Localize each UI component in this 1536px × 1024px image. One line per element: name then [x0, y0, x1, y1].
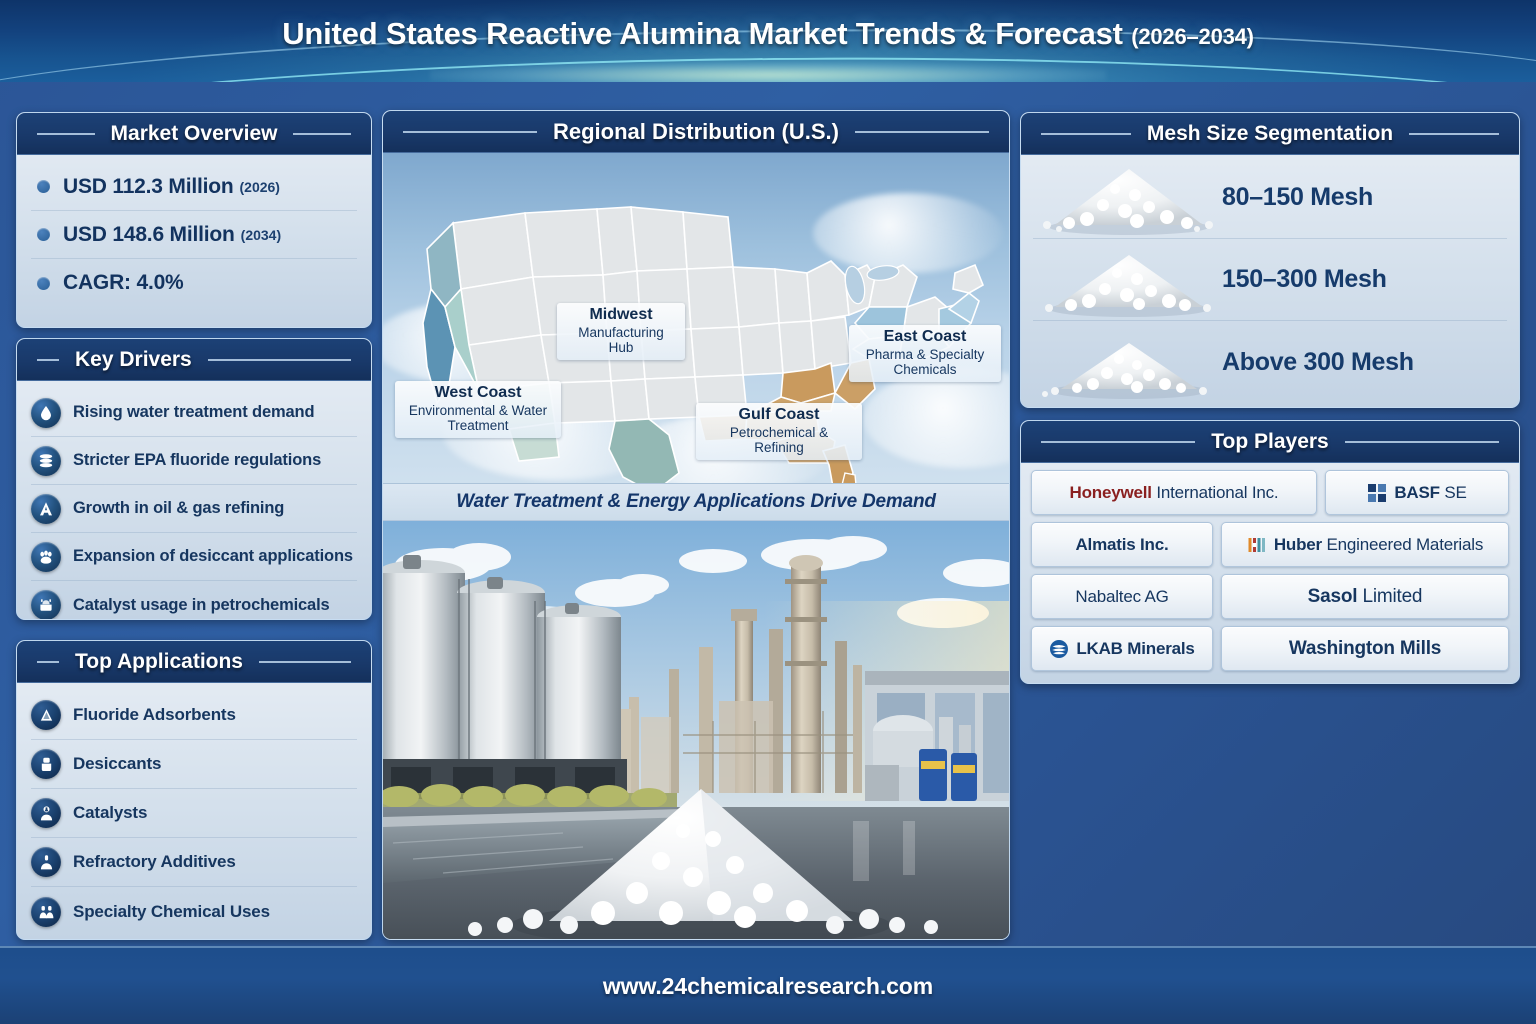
header-rule-right	[293, 133, 351, 135]
lkab-brand: LKAB Minerals	[1076, 639, 1194, 658]
regional-distribution-panel: Regional Distribution (U.S.)	[382, 110, 1010, 940]
paw-icon	[31, 542, 61, 572]
player-name: BASF SE	[1394, 483, 1466, 503]
regional-distribution-header: Regional Distribution (U.S.)	[383, 111, 1009, 153]
top-application-label: Desiccants	[73, 754, 161, 774]
player-honeywell[interactable]: Honeywell International Inc.	[1031, 470, 1317, 515]
us-map-area: Midwest Manufacturing Hub West Coast Env…	[383, 153, 1009, 483]
sasol-suffix: Limited	[1357, 586, 1422, 607]
almatis-brand: Almatis Inc.	[1075, 535, 1168, 554]
mesh-size-body: 80–150 Mesh	[1021, 155, 1519, 405]
key-driver-item: Catalyst usage in petrochemicals	[31, 581, 357, 620]
player-huber[interactable]: Huber Engineered Materials	[1221, 522, 1509, 567]
top-application-item: Desiccants	[31, 740, 357, 789]
bullet-dot-icon	[37, 277, 50, 290]
top-players-title: Top Players	[1195, 430, 1345, 454]
header-rule-right	[259, 661, 351, 663]
huber-suffix: Engineered Materials	[1322, 535, 1483, 554]
market-overview-title: Market Overview	[95, 122, 294, 146]
key-driver-label: Growth in oil & gas refining	[73, 499, 284, 518]
key-driver-item: Rising water treatment demand	[31, 389, 357, 437]
top-application-item: Refractory Additives	[31, 838, 357, 887]
map-label-title: West Coast	[405, 384, 551, 403]
player-sasol[interactable]: Sasol Limited	[1221, 574, 1509, 619]
letter-a-icon	[31, 494, 61, 524]
huber-brand: Huber	[1274, 535, 1322, 554]
page-header: United States Reactive Alumina Market Tr…	[0, 0, 1536, 82]
key-driver-label: Expansion of desiccant applications	[73, 547, 353, 566]
player-name: Huber Engineered Materials	[1274, 535, 1483, 555]
top-players-body: Honeywell International Inc. BASF SE Alm…	[1021, 463, 1519, 678]
mesh-size-item: 80–150 Mesh	[1033, 157, 1507, 239]
map-label-midwest: Midwest Manufacturing Hub	[557, 303, 685, 360]
market-overview-body: USD 112.3 Million (2026) USD 148.6 Milli…	[17, 155, 371, 315]
player-name: LKAB Minerals	[1076, 639, 1194, 659]
basf-logo-icon	[1367, 483, 1387, 503]
header-rule-left	[37, 661, 59, 663]
top-applications-body: Fluoride Adsorbents Desiccants Catalysts	[17, 683, 371, 940]
key-driver-item: Growth in oil & gas refining	[31, 485, 357, 533]
header-rule-left	[1041, 133, 1131, 135]
honeywell-brand: Honeywell	[1070, 483, 1152, 502]
map-label-title: Midwest	[567, 306, 675, 325]
canister-icon	[31, 749, 61, 779]
mesh-size-panel: Mesh Size Segmentation	[1020, 112, 1520, 408]
header-rule-left	[37, 133, 95, 135]
top-application-item: Fluoride Adsorbents	[31, 691, 357, 740]
bullet-dot-icon	[37, 180, 50, 193]
map-label-desc: Environmental & Water Treatment	[405, 403, 551, 434]
key-drivers-header: Key Drivers	[17, 339, 371, 381]
top-players-row: Almatis Inc. Huber Engineered Materials	[1031, 522, 1509, 567]
mesh-size-item: 150–300 Mesh	[1033, 239, 1507, 321]
map-label-desc: Pharma & Specialty Chemicals	[859, 347, 991, 378]
huber-logo-icon	[1247, 535, 1267, 555]
page-title: United States Reactive Alumina Market Tr…	[0, 16, 1536, 52]
top-players-row: LKAB Minerals Washington Mills	[1031, 626, 1509, 671]
mesh-size-title: Mesh Size Segmentation	[1131, 122, 1409, 146]
reactor-icon	[31, 590, 61, 620]
top-applications-header: Top Applications	[17, 641, 371, 683]
nabaltec-brand: Nabaltec AG	[1075, 587, 1168, 606]
bullet-dot-icon	[37, 228, 50, 241]
player-basf[interactable]: BASF SE	[1325, 470, 1509, 515]
map-label-east-coast: East Coast Pharma & Specialty Chemicals	[849, 325, 1001, 382]
key-drivers-panel: Key Drivers Rising water treatment deman…	[16, 338, 372, 620]
player-name: Washington Mills	[1289, 638, 1441, 660]
person-flask-icon	[31, 798, 61, 828]
header-rule-right	[1345, 441, 1499, 443]
center-caption: Water Treatment & Energy Applications Dr…	[383, 483, 1009, 521]
header-rule-left	[403, 131, 537, 133]
footer-url[interactable]: www.24chemicalresearch.com	[603, 973, 933, 1000]
powder-pile-icon	[1037, 325, 1222, 399]
header-glow-decoration	[430, 62, 1106, 82]
header-rule-left	[1041, 441, 1195, 443]
market-overview-row: USD 112.3 Million (2026)	[31, 163, 357, 211]
player-name: Nabaltec AG	[1075, 587, 1168, 607]
top-application-item: Catalysts	[31, 789, 357, 838]
market-overview-row: CAGR: 4.0%	[31, 259, 357, 307]
key-driver-label: Catalyst usage in petrochemicals	[73, 596, 330, 615]
map-label-desc: Manufacturing Hub	[567, 325, 675, 356]
top-players-row: Nabaltec AG Sasol Limited	[1031, 574, 1509, 619]
market-value: USD 112.3 Million	[63, 175, 234, 199]
top-players-row: Honeywell International Inc. BASF SE	[1031, 470, 1509, 515]
cagr-value: CAGR: 4.0%	[63, 271, 184, 295]
top-application-label: Catalysts	[73, 803, 147, 823]
mesh-size-label: 150–300 Mesh	[1222, 265, 1387, 294]
person-icon	[31, 847, 61, 877]
page-title-years: (2026–2034)	[1131, 24, 1254, 49]
player-name: Almatis Inc.	[1075, 535, 1168, 555]
player-lkab[interactable]: LKAB Minerals	[1031, 626, 1213, 671]
mesh-size-header: Mesh Size Segmentation	[1021, 113, 1519, 155]
refinery-photo	[383, 521, 1009, 940]
powder-pile-icon	[1037, 161, 1222, 235]
top-application-item: Specialty Chemical Uses	[31, 887, 357, 936]
market-overview-row: USD 148.6 Million (2034)	[31, 211, 357, 259]
top-application-label: Refractory Additives	[73, 852, 236, 872]
honeywell-suffix: International Inc.	[1152, 483, 1279, 502]
cone-icon	[31, 700, 61, 730]
key-driver-item: Expansion of desiccant applications	[31, 533, 357, 581]
player-name: Honeywell International Inc.	[1070, 483, 1279, 503]
key-driver-label: Stricter EPA fluoride regulations	[73, 451, 321, 470]
mesh-size-label: Above 300 Mesh	[1222, 348, 1414, 377]
market-overview-panel: Market Overview USD 112.3 Million (2026)…	[16, 112, 372, 328]
market-value-year: (2026)	[240, 179, 280, 195]
header-rule-right	[208, 359, 351, 361]
key-drivers-title: Key Drivers	[59, 348, 208, 372]
basf-brand: BASF	[1394, 483, 1439, 502]
water-drop-icon	[31, 398, 61, 428]
mesh-size-label: 80–150 Mesh	[1222, 183, 1373, 212]
player-nabaltec[interactable]: Nabaltec AG	[1031, 574, 1213, 619]
top-applications-panel: Top Applications Fluoride Adsorbents Des…	[16, 640, 372, 940]
layers-icon	[31, 446, 61, 476]
page-footer: www.24chemicalresearch.com	[0, 946, 1536, 1024]
key-driver-item: Stricter EPA fluoride regulations	[31, 437, 357, 485]
top-players-header: Top Players	[1021, 421, 1519, 463]
basf-suffix: SE	[1440, 483, 1467, 502]
header-rule-left	[37, 359, 59, 361]
header-rule-right	[855, 131, 989, 133]
player-name: Sasol Limited	[1308, 586, 1423, 608]
map-label-desc: Petrochemical & Refining	[706, 425, 852, 456]
map-label-title: East Coast	[859, 328, 991, 347]
market-value-year: (2034)	[241, 227, 281, 243]
people-icon	[31, 897, 61, 927]
header-rule-right	[1409, 133, 1499, 135]
top-application-label: Specialty Chemical Uses	[73, 902, 270, 922]
map-label-title: Gulf Coast	[706, 406, 852, 425]
key-drivers-body: Rising water treatment demand Stricter E…	[17, 381, 371, 620]
top-players-grid: Honeywell International Inc. BASF SE Alm…	[1031, 470, 1509, 671]
page-title-main: United States Reactive Alumina Market Tr…	[282, 16, 1123, 51]
map-label-gulf-coast: Gulf Coast Petrochemical & Refining	[696, 403, 862, 460]
market-value: USD 148.6 Million	[63, 223, 235, 247]
sasol-brand: Sasol	[1308, 586, 1358, 607]
map-label-west-coast: West Coast Environmental & Water Treatme…	[395, 381, 561, 438]
market-overview-header: Market Overview	[17, 113, 371, 155]
center-caption-text: Water Treatment & Energy Applications Dr…	[456, 491, 936, 513]
top-applications-title: Top Applications	[59, 650, 259, 674]
key-driver-label: Rising water treatment demand	[73, 403, 314, 422]
top-players-panel: Top Players Honeywell International Inc.…	[1020, 420, 1520, 684]
player-washington-mills[interactable]: Washington Mills	[1221, 626, 1509, 671]
washington-mills-brand: Washington Mills	[1289, 638, 1441, 659]
top-application-label: Fluoride Adsorbents	[73, 705, 236, 725]
refinery-photo-svg	[383, 521, 1009, 940]
mesh-size-item: Above 300 Mesh	[1033, 321, 1507, 403]
player-almatis[interactable]: Almatis Inc.	[1031, 522, 1213, 567]
regional-distribution-title: Regional Distribution (U.S.)	[537, 119, 855, 145]
lkab-logo-icon	[1049, 639, 1069, 659]
powder-pile-icon	[1037, 243, 1222, 317]
